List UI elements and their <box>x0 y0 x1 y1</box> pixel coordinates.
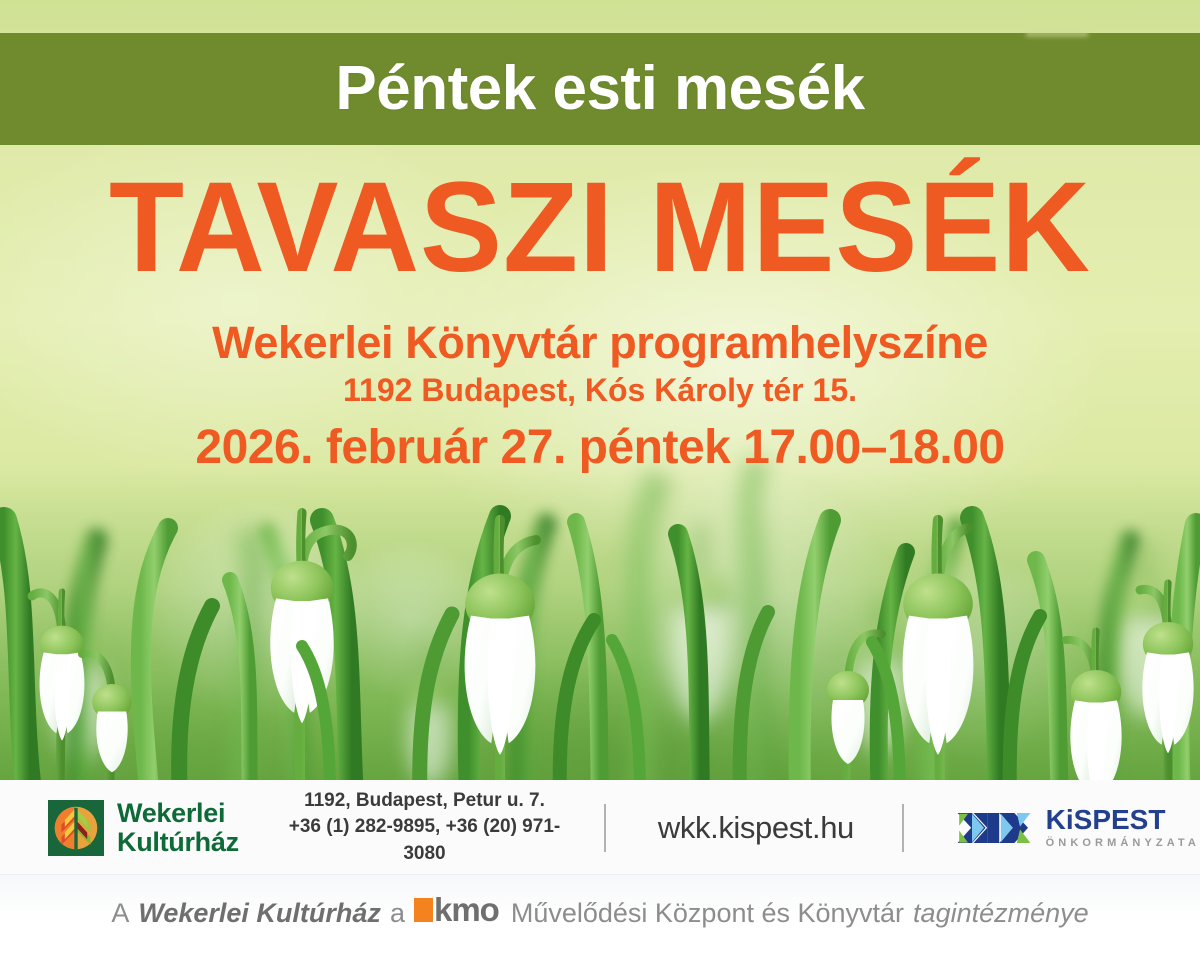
series-title: Péntek esti mesék <box>335 58 864 120</box>
wekerlei-brand[interactable]: Wekerlei Kultúrház <box>48 799 239 856</box>
tagline-institution: Wekerlei Kultúrház <box>138 899 381 929</box>
main-copy-block: TAVASZI MESÉK Wekerlei Könyvtár programh… <box>0 160 1200 475</box>
contact-block: 1192, Budapest, Petur u. 7. +36 (1) 282-… <box>287 788 562 867</box>
website-link[interactable]: wkk.kispest.hu <box>658 810 854 846</box>
footer-bar: Wekerlei Kultúrház 1192, Budapest, Petur… <box>0 780 1200 875</box>
top-strip <box>0 0 1200 33</box>
venue-name: Wekerlei Könyvtár programhelyszíne <box>0 318 1200 368</box>
footer-divider <box>604 804 606 852</box>
kmo-logo: kmo <box>414 893 499 926</box>
band-artifact <box>1026 31 1088 37</box>
xix-chevron-logo-icon <box>956 809 1036 847</box>
kispest-text: KiSPEST ÖNKORMÁNYZATA <box>1046 806 1200 849</box>
event-headline: TAVASZI MESÉK <box>24 160 1176 296</box>
tagline-prefix: A <box>111 899 129 929</box>
kmo-wordmark: kmo <box>434 893 499 926</box>
contact-phones: +36 (1) 282-9895, +36 (20) 971-3080 <box>287 814 562 866</box>
brand-line-1: Wekerlei <box>117 799 239 828</box>
bottom-bar: A Wekerlei Kultúrház a kmo Művelődési Kö… <box>0 875 1200 960</box>
contact-address: 1192, Budapest, Petur u. 7. <box>287 788 562 814</box>
series-title-band: Péntek esti mesék <box>0 33 1200 145</box>
tagline-connector: a <box>390 899 405 929</box>
tagline-middle: Művelődési Központ és Könyvtár <box>511 899 904 929</box>
venue-address: 1192 Budapest, Kós Károly tér 15. <box>0 373 1200 408</box>
kispest-name: KiSPEST <box>1046 806 1200 834</box>
footer-divider <box>902 804 904 852</box>
event-datetime: 2026. február 27. péntek 17.00–18.00 <box>0 422 1200 475</box>
poster-canvas: Péntek esti mesék TAVASZI MESÉK Wekerlei… <box>0 0 1200 960</box>
parent-institution-tagline: A Wekerlei Kultúrház a kmo Művelődési Kö… <box>111 893 1088 928</box>
wekerlei-leaf-logo-icon <box>48 800 104 856</box>
wekerlei-brand-text: Wekerlei Kultúrház <box>117 799 239 856</box>
kmo-orange-square-icon <box>414 898 433 922</box>
tagline-suffix: tagintézménye <box>913 899 1089 929</box>
brand-line-2: Kultúrház <box>117 828 239 857</box>
kispest-subtitle: ÖNKORMÁNYZATA <box>1046 838 1200 849</box>
kispest-brand[interactable]: KiSPEST ÖNKORMÁNYZATA <box>956 806 1200 849</box>
